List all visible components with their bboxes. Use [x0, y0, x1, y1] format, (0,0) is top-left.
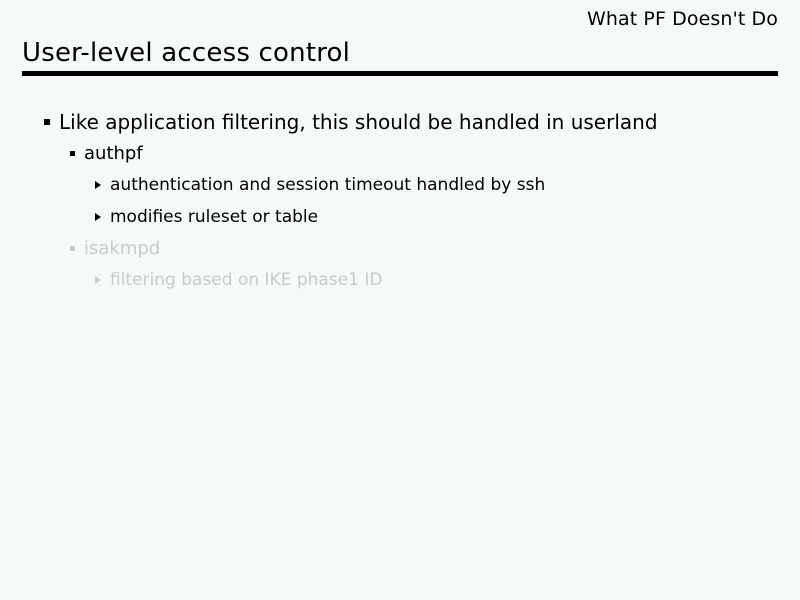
triangle-bullet-icon: [95, 213, 101, 221]
list-item: modifies ruleset or table: [0, 202, 800, 233]
slide-section-header: What PF Doesn't Do: [587, 8, 778, 30]
list-item: Like application filtering, this should …: [0, 107, 800, 138]
title-divider: [22, 71, 778, 76]
page-title: User-level access control: [22, 38, 350, 68]
list-item: authpf: [0, 139, 800, 169]
list-item-label: authpf: [84, 139, 143, 169]
list-item: authentication and session timeout handl…: [0, 170, 800, 201]
square-bullet-icon: [44, 119, 50, 125]
square-bullet-icon: [70, 246, 75, 251]
list-item-label: modifies ruleset or table: [110, 202, 318, 233]
presentation-slide: What PF Doesn't Do User-level access con…: [0, 0, 800, 600]
list-item-label: isakmpd: [84, 234, 160, 264]
triangle-bullet-icon: [95, 181, 101, 189]
square-bullet-icon: [70, 151, 75, 156]
triangle-bullet-icon: [95, 276, 101, 284]
list-item-label: authentication and session timeout handl…: [110, 170, 545, 201]
bullet-list: Like application filtering, this should …: [0, 107, 800, 297]
list-item-label: Like application filtering, this should …: [59, 107, 658, 138]
list-item-label: filtering based on IKE phase1 ID: [110, 265, 382, 296]
list-item-dimmed: isakmpd: [0, 234, 800, 264]
list-item-dimmed: filtering based on IKE phase1 ID: [0, 265, 800, 296]
